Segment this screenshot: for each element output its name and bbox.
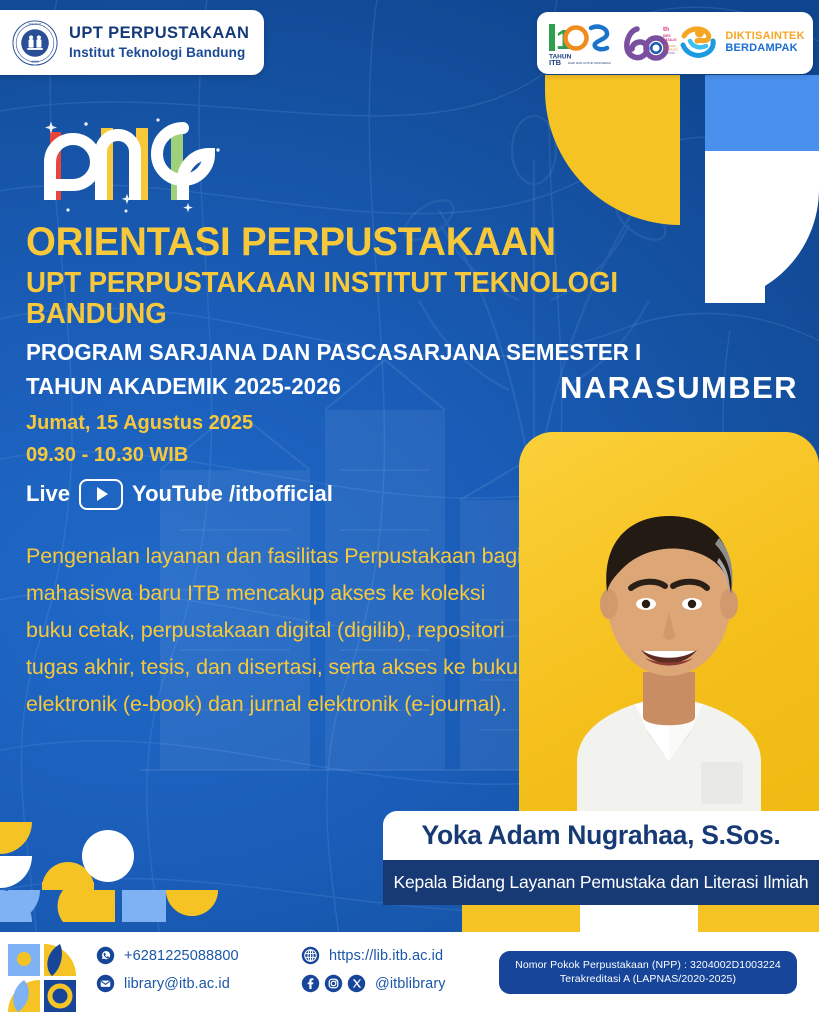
contact-website-label: https://lib.itb.ac.id (329, 948, 443, 964)
decor-lightblue-rect (705, 75, 819, 151)
poster-canvas: 1920 INSTITUT UPT PERPUSTAKAAN Institut … (0, 0, 819, 1024)
diktisaintek-label-2: BERDAMPAK (725, 43, 804, 55)
live-label: Live (26, 481, 70, 507)
svg-text:NATALIS: NATALIS (663, 38, 677, 42)
footer-bar: +6281225088800 https://lib.itb.ac.id (0, 932, 819, 1024)
speaker-position: Kepala Bidang Layanan Pemustaka dan Lite… (394, 872, 809, 893)
badge-line-1: UPT PERPUSTAKAAN (69, 24, 249, 43)
speaker-name-plate: Yoka Adam Nugrahaa, S.Sos. (383, 811, 819, 860)
itb-library-mark-icon (6, 940, 84, 1016)
itb-seal-icon: 1920 INSTITUT (12, 20, 58, 66)
contact-whatsapp[interactable]: +6281225088800 (96, 946, 301, 965)
contact-email-label: library@itb.ac.id (124, 976, 230, 992)
itb-105-years-logo: 1 TAHUN ITB DARI DAN UNTUK INDONESIA (545, 20, 619, 66)
svg-text:DIES: DIES (663, 34, 671, 38)
contact-whatsapp-label: +6281225088800 (124, 948, 239, 964)
contact-social[interactable]: @itblibrary (301, 974, 446, 993)
facebook-icon[interactable] (301, 974, 320, 993)
svg-text:ITB: ITB (549, 58, 562, 66)
youtube-play-icon[interactable] (79, 479, 123, 510)
description-text: Pengenalan layanan dan fasilitas Perpust… (26, 538, 526, 723)
globe-icon (301, 946, 320, 965)
svg-text:INSTITUT: INSTITUT (29, 22, 42, 26)
pmb-logo (28, 112, 238, 217)
badge-line-2: Institut Teknologi Bandung (69, 45, 249, 61)
contact-social-label: @itblibrary (375, 976, 446, 992)
page-subtitle: UPT PERPUSTAKAAN INSTITUT TEKNOLOGI BAND… (26, 268, 695, 331)
svg-text:th: th (663, 26, 669, 33)
program-line: PROGRAM SARJANA DAN PASCASARJANA SEMESTE… (26, 339, 695, 366)
speaker-position-plate: Kepala Bidang Layanan Pemustaka dan Lite… (383, 860, 819, 905)
speaker-name: Yoka Adam Nugrahaa, S.Sos. (422, 820, 781, 851)
diktisaintek-berdampak-logo: DIKTISAINTEK BERDAMPAK (678, 23, 804, 63)
npp-line-2: Terakreditasi A (LAPNAS/2020-2025) (509, 972, 787, 986)
contact-website[interactable]: https://lib.itb.ac.id (301, 946, 446, 965)
speaker-section-label: NARASUMBER (560, 370, 798, 406)
decor-stripe-yellow-1 (462, 905, 580, 935)
speaker-portrait (519, 432, 819, 824)
social-icon-group[interactable] (301, 974, 366, 993)
contact-email[interactable]: library@itb.ac.id (96, 974, 301, 993)
speaker-photo-card (519, 432, 819, 824)
npp-line-1: Nomor Pokok Perpustakaan (NPP) : 3204002… (509, 958, 787, 972)
partner-logos-badge: 1 TAHUN ITB DARI DAN UNTUK INDONESIA th … (537, 12, 813, 74)
svg-text:INDUSTRI: INDUSTRI (663, 52, 675, 55)
library-identity-badge: 1920 INSTITUT UPT PERPUSTAKAAN Institut … (0, 10, 264, 75)
email-icon (96, 974, 115, 993)
decor-stripe-yellow-2 (698, 905, 819, 935)
diktisaintek-mark-icon (678, 23, 720, 63)
dies-natalis-66-logo: th DIES NATALIS FAKULTAS TEKNOLOGI INDUS… (620, 20, 678, 66)
svg-text:1920: 1920 (31, 59, 38, 63)
page-title: ORIENTASI PERPUSTAKAAN (26, 222, 688, 264)
decor-stripe-white (580, 905, 698, 935)
live-channel: YouTube /itbofficial (132, 481, 333, 507)
contact-list: +6281225088800 https://lib.itb.ac.id (96, 946, 446, 993)
instagram-icon[interactable] (324, 974, 343, 993)
npp-accreditation-badge: Nomor Pokok Perpustakaan (NPP) : 3204002… (499, 951, 797, 994)
svg-text:TEKNOLOGI: TEKNOLOGI (663, 49, 678, 52)
svg-text:FAKULTAS: FAKULTAS (663, 45, 676, 48)
x-twitter-icon[interactable] (347, 974, 366, 993)
play-triangle-icon (97, 487, 108, 501)
decor-shape-cluster (0, 822, 230, 937)
svg-text:DARI DAN UNTUK INDONESIA: DARI DAN UNTUK INDONESIA (568, 61, 611, 65)
whatsapp-icon (96, 946, 115, 965)
